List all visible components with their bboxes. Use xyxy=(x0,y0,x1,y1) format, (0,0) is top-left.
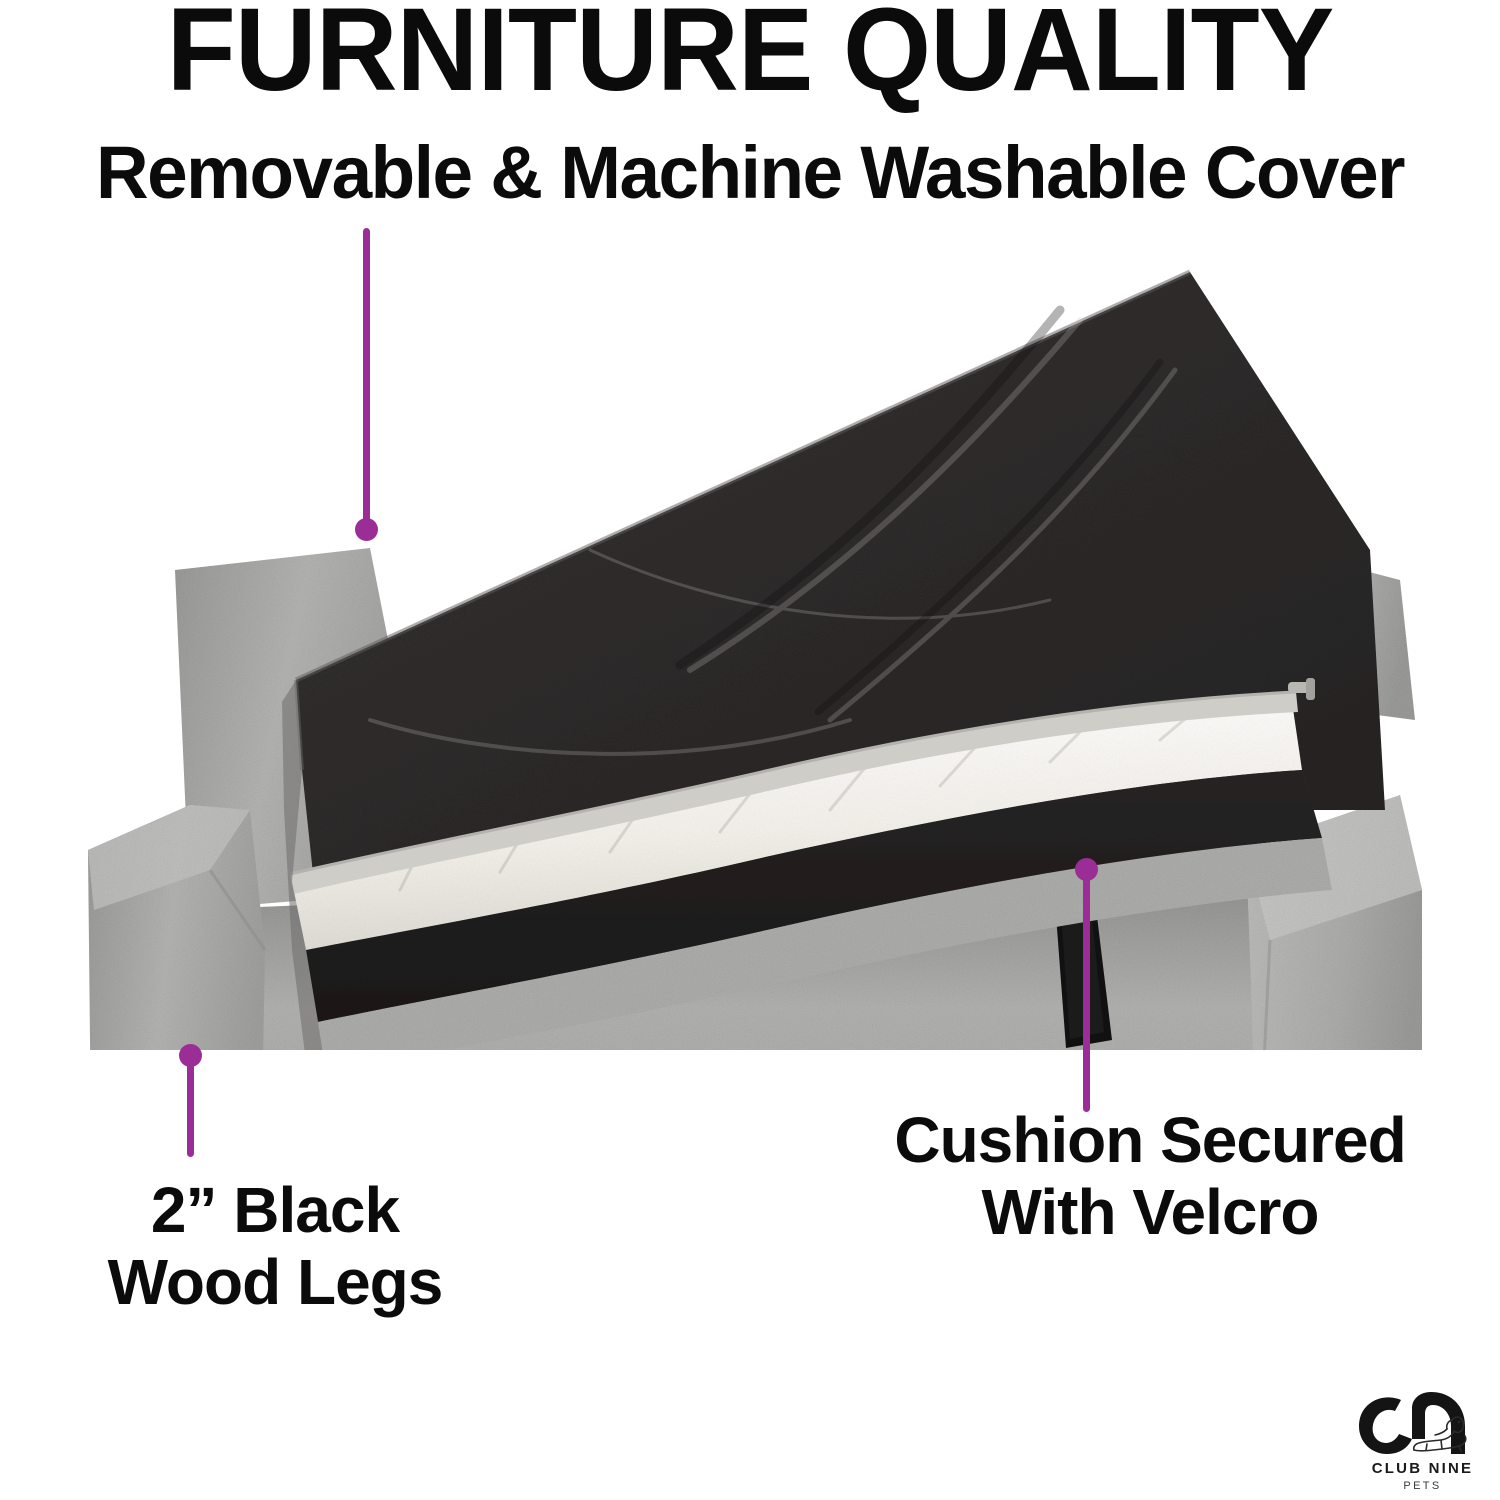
callout-velcro-line1: Cushion Secured xyxy=(820,1105,1480,1177)
callout-wood-legs-line2: Wood Legs xyxy=(60,1247,490,1319)
callout-wood-legs: 2” Black Wood Legs xyxy=(60,1175,490,1318)
brand-logo: CLUB NINE PETS xyxy=(1355,1392,1490,1498)
callout-velcro-line2: With Velcro xyxy=(820,1177,1480,1249)
product-photo xyxy=(70,250,1430,1050)
pointer-line-washable-cover xyxy=(363,228,370,528)
infographic-page: FURNITURE QUALITY Removable & Machine Wa… xyxy=(0,0,1500,1500)
page-subtitle: Removable & Machine Washable Cover xyxy=(11,132,1489,213)
logo-brand-name: CLUB NINE xyxy=(1355,1460,1490,1477)
logo-brand-sub: PETS xyxy=(1355,1480,1490,1492)
pointer-line-wood-legs xyxy=(187,1055,194,1157)
callout-wood-legs-line1: 2” Black xyxy=(60,1175,490,1247)
pointer-dot-washable-cover xyxy=(355,518,378,541)
callout-velcro: Cushion Secured With Velcro xyxy=(820,1105,1480,1248)
page-title: FURNITURE QUALITY xyxy=(30,0,1470,116)
cn-monogram-icon xyxy=(1355,1392,1490,1458)
left-armrest xyxy=(88,805,265,1050)
pointer-line-velcro xyxy=(1083,869,1090,1112)
